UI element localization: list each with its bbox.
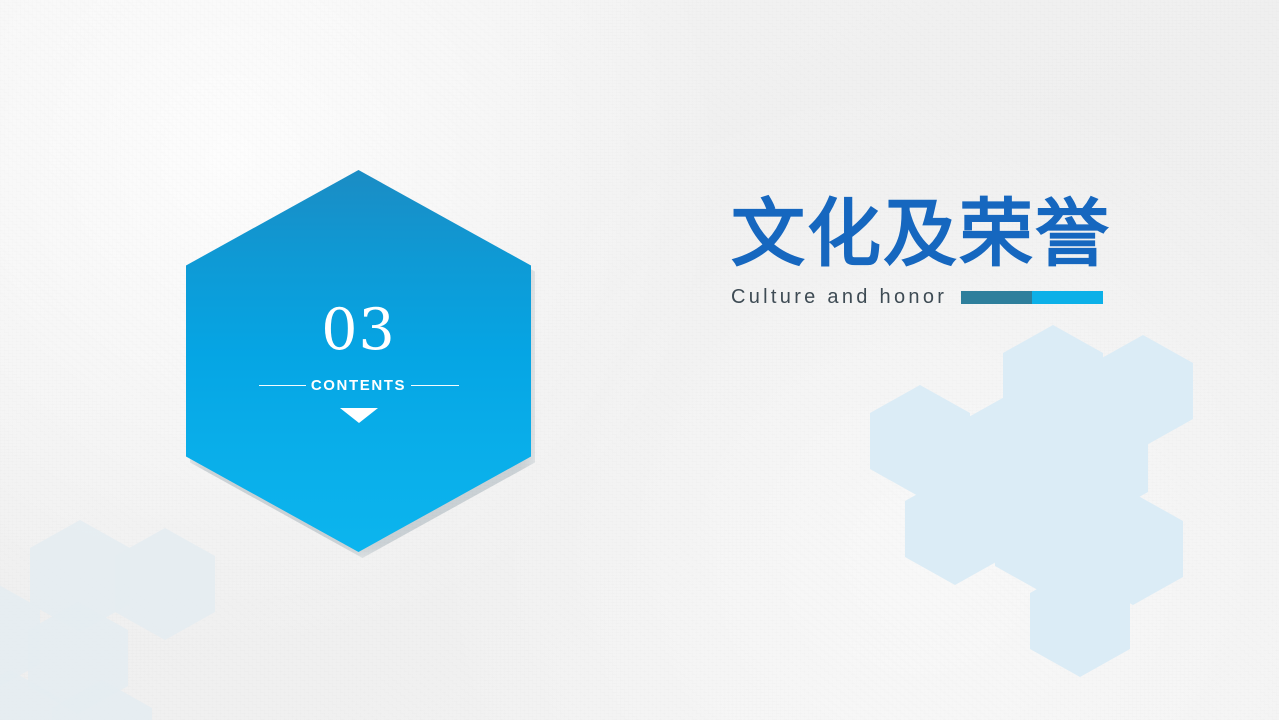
honeycomb-hexagon — [30, 520, 130, 632]
honeycomb-hexagon — [1083, 493, 1183, 605]
contents-label: CONTENTS — [306, 377, 411, 394]
honeycomb-hexagon — [1003, 325, 1103, 437]
honeycomb-hexagon — [0, 580, 40, 692]
honeycomb-hexagon — [1093, 335, 1193, 447]
presentation-slide: 03 CONTENTS 文化及荣誉 Culture and honor — [0, 0, 1279, 720]
slide-subtitle: Culture and honor — [731, 286, 947, 309]
rule-right — [411, 385, 458, 386]
accent-bar-segment-left — [961, 291, 1032, 304]
title-block: 文化及荣誉 Culture and honor — [731, 196, 1151, 309]
caret-down-icon — [340, 408, 378, 423]
accent-bar — [961, 291, 1103, 304]
honeycomb-hexagon — [0, 670, 60, 720]
honeycomb-hexagon — [870, 385, 970, 497]
slide-title: 文化及荣誉 — [731, 196, 1151, 274]
honeycomb-decoration-right — [855, 325, 1279, 665]
contents-label-row: CONTENTS — [259, 377, 459, 394]
honeycomb-hexagon — [995, 482, 1095, 594]
section-number: 03 — [321, 302, 396, 359]
rule-left — [259, 385, 306, 386]
subtitle-row: Culture and honor — [731, 286, 1151, 309]
honeycomb-hexagon — [958, 395, 1058, 507]
hexagon-content: 03 CONTENTS — [186, 170, 531, 552]
honeycomb-hexagon — [905, 473, 1005, 585]
accent-bar-segment-right — [1032, 291, 1103, 304]
honeycomb-hexagon — [52, 680, 152, 720]
section-number-hexagon: 03 CONTENTS — [186, 170, 531, 552]
honeycomb-hexagon — [1030, 565, 1130, 677]
honeycomb-hexagon — [28, 602, 128, 714]
honeycomb-hexagon — [1048, 408, 1148, 520]
